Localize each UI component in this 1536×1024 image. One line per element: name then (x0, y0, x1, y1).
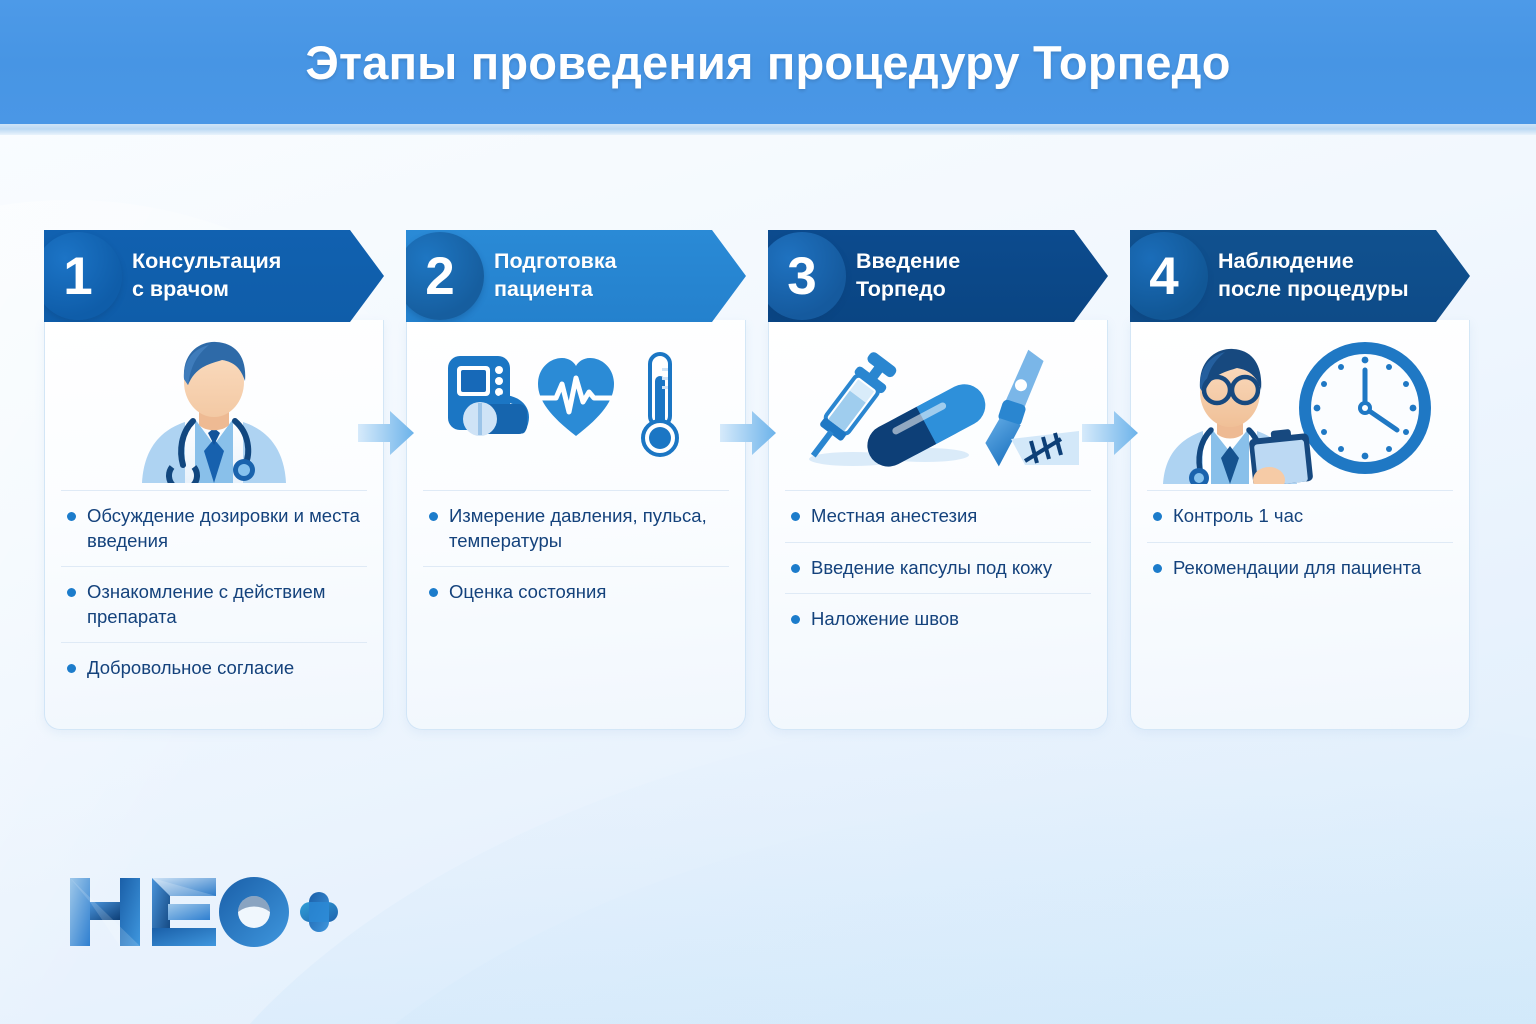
bullet-text: Наложение швов (811, 607, 959, 632)
logo-letter-e (152, 878, 216, 946)
bullet-text: Обсуждение дозировки и места введения (87, 504, 361, 553)
arrow-step-3-to-4 (1080, 408, 1140, 458)
background-swoosh-1 (120, 700, 1536, 1024)
doctor-clock-icon (1147, 332, 1453, 484)
list-item: Контроль 1 час (1147, 490, 1453, 542)
bullet-list-2: Измерение давления, пульса, температуры … (423, 490, 729, 618)
bullet-dot-icon (1153, 564, 1162, 573)
list-item: Рекомендации для пациента (1147, 542, 1453, 594)
step-card-1[interactable]: 1 Консультация с врачом (44, 230, 384, 730)
list-item: Введение капсулы под кожу (785, 542, 1091, 594)
step-body-4: Контроль 1 час Рекомендации для пациента (1130, 320, 1470, 730)
step-header-2: 2 Подготовка пациента (406, 230, 746, 322)
step-card-2[interactable]: 2 Подготовка пациента (406, 230, 746, 730)
arrow-step-1-to-2 (356, 408, 416, 458)
list-item: Оценка состояния (423, 566, 729, 618)
surgery-icons (785, 332, 1091, 484)
steps-row: 1 Консультация с врачом (44, 230, 1492, 730)
sutures-icon (1011, 431, 1079, 465)
blood-pressure-monitor-icon (448, 356, 527, 436)
bullet-text: Измерение давления, пульса, температуры (449, 504, 723, 553)
bullet-dot-icon (67, 512, 76, 521)
background-swoosh-2 (200, 790, 1536, 1024)
bullet-text: Рекомендации для пациента (1173, 556, 1421, 581)
step-card-3[interactable]: 3 Введение Торпедо (768, 230, 1108, 730)
thermometer-icon (643, 354, 677, 455)
bullet-dot-icon (429, 588, 438, 597)
heart-pulse-icon (536, 358, 616, 436)
bullet-list-4: Контроль 1 час Рекомендации для пациента (1147, 490, 1453, 593)
bullet-text: Оценка состояния (449, 580, 606, 605)
step-title-3: Введение Торпедо (856, 248, 1108, 303)
bullet-text: Местная анестезия (811, 504, 977, 529)
logo-letter-o (219, 877, 289, 947)
list-item: Добровольное согласие (61, 642, 367, 694)
step-header-4: 4 Наблюдение после процедуры (1130, 230, 1470, 322)
title-underline (0, 124, 1536, 135)
step-number-badge-1: 1 (34, 232, 122, 320)
step-title-2: Подготовка пациента (494, 248, 746, 303)
bullet-dot-icon (67, 664, 76, 673)
step-body-3: Местная анестезия Введение капсулы под к… (768, 320, 1108, 730)
list-item: Обсуждение дозировки и места введения (61, 490, 367, 566)
step-number-badge-2: 2 (396, 232, 484, 320)
infographic-page: Этапы проведения процедуру Торпедо 1 Кон… (0, 0, 1536, 1024)
bullet-dot-icon (791, 512, 800, 521)
step-title-1: Консультация с врачом (132, 248, 384, 303)
doctor-icon (61, 332, 367, 484)
bullet-dot-icon (429, 512, 438, 521)
bullet-dot-icon (791, 615, 800, 624)
bullet-text: Контроль 1 час (1173, 504, 1303, 529)
list-item: Наложение швов (785, 593, 1091, 645)
bullet-text: Добровольное согласие (87, 656, 294, 681)
bullet-list-3: Местная анестезия Введение капсулы под к… (785, 490, 1091, 645)
step-title-4: Наблюдение после процедуры (1218, 248, 1470, 303)
step-header-3: 3 Введение Торпедо (768, 230, 1108, 322)
step-body-1: Обсуждение дозировки и места введения Оз… (44, 320, 384, 730)
step-header-1: 1 Консультация с врачом (44, 230, 384, 322)
bullet-text: Ознакомление с действием препарата (87, 580, 361, 629)
arrow-step-2-to-3 (718, 408, 778, 458)
step-body-2: Измерение давления, пульса, температуры … (406, 320, 746, 730)
step-number-badge-4: 4 (1120, 232, 1208, 320)
clock-icon (1299, 342, 1431, 474)
title-bar: Этапы проведения процедуру Торпедо (0, 0, 1536, 124)
logo-plus-icon (300, 892, 338, 932)
list-item: Ознакомление с действием препарата (61, 566, 367, 642)
page-title: Этапы проведения процедуру Торпедо (305, 35, 1230, 90)
bullet-dot-icon (791, 564, 800, 573)
step-card-4[interactable]: 4 Наблюдение после процедуры (1130, 230, 1470, 730)
bullet-dot-icon (67, 588, 76, 597)
vitals-icons (423, 332, 729, 484)
bullet-dot-icon (1153, 512, 1162, 521)
background-swoosh-3 (280, 860, 1536, 1024)
list-item: Местная анестезия (785, 490, 1091, 542)
bullet-text: Введение капсулы под кожу (811, 556, 1052, 581)
bullet-list-1: Обсуждение дозировки и места введения Оз… (61, 490, 367, 694)
list-item: Измерение давления, пульса, температуры (423, 490, 729, 566)
logo-letter-n (70, 878, 140, 946)
step-number-badge-3: 3 (758, 232, 846, 320)
brand-logo[interactable] (68, 872, 338, 952)
doctor-with-clipboard-icon (1163, 349, 1313, 484)
